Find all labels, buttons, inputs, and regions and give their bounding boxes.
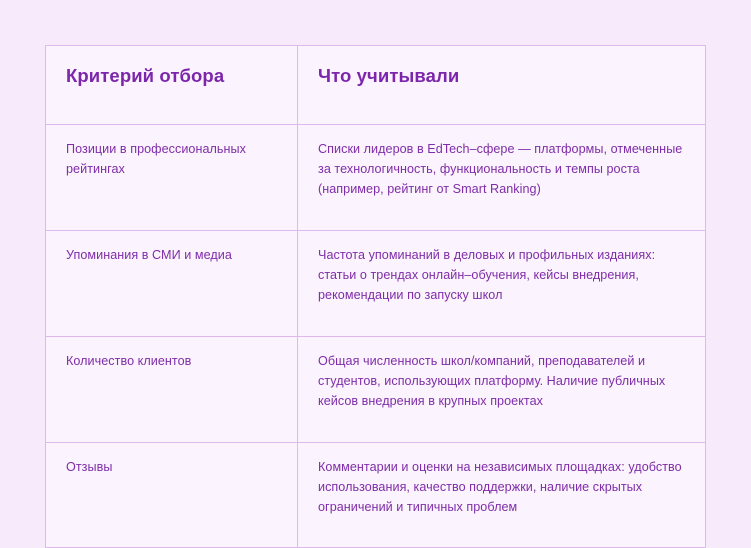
table-body: Позиции в профессиональных рейтингах Спи… <box>46 125 706 548</box>
cell-criterion-text: Упоминания в СМИ и медиа <box>66 245 279 265</box>
cell-criterion: Позиции в профессиональных рейтингах <box>46 125 298 231</box>
cell-considered-text: Общая численность школ/компаний, препода… <box>318 351 687 411</box>
cell-criterion: Отзывы <box>46 443 298 548</box>
column-header-criterion: Критерий отбора <box>46 46 298 125</box>
table-row: Позиции в профессиональных рейтингах Спи… <box>46 125 706 231</box>
table-row: Отзывы Комментарии и оценки на независим… <box>46 443 706 548</box>
cell-considered: Комментарии и оценки на независимых площ… <box>298 443 706 548</box>
cell-considered: Общая численность школ/компаний, препода… <box>298 337 706 443</box>
table-row: Количество клиентов Общая численность шк… <box>46 337 706 443</box>
column-header-criterion-label: Критерий отбора <box>66 64 297 88</box>
page-root: Критерий отбора Что учитывали Позиции в … <box>0 0 751 516</box>
column-header-considered-label: Что учитывали <box>318 64 705 88</box>
column-header-considered: Что учитывали <box>298 46 706 125</box>
cell-considered-text: Частота упоминаний в деловых и профильны… <box>318 245 687 305</box>
cell-criterion-text: Количество клиентов <box>66 351 279 371</box>
criteria-table: Критерий отбора Что учитывали Позиции в … <box>45 45 706 548</box>
cell-criterion-text: Отзывы <box>66 457 279 477</box>
cell-criterion: Упоминания в СМИ и медиа <box>46 231 298 337</box>
cell-considered: Списки лидеров в EdTech–сфере — платформ… <box>298 125 706 231</box>
cell-considered: Частота упоминаний в деловых и профильны… <box>298 231 706 337</box>
table-row: Упоминания в СМИ и медиа Частота упомина… <box>46 231 706 337</box>
table-header-row: Критерий отбора Что учитывали <box>46 46 706 125</box>
cell-criterion: Количество клиентов <box>46 337 298 443</box>
criteria-table-container: Критерий отбора Что учитывали Позиции в … <box>45 45 705 470</box>
cell-considered-text: Комментарии и оценки на независимых площ… <box>318 457 687 517</box>
table-header: Критерий отбора Что учитывали <box>46 46 706 125</box>
cell-criterion-text: Позиции в профессиональных рейтингах <box>66 139 279 179</box>
cell-considered-text: Списки лидеров в EdTech–сфере — платформ… <box>318 139 687 199</box>
